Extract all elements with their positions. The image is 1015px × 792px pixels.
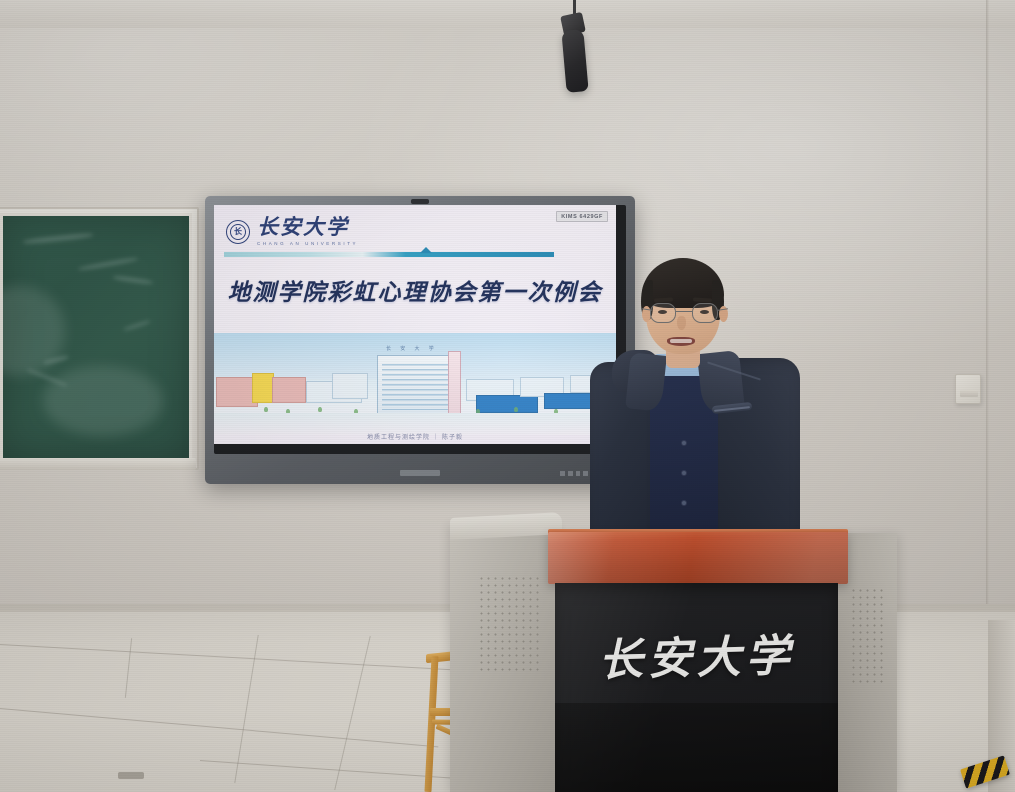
campus-building-label: 长 安 大 学 xyxy=(386,345,438,352)
presentation-slide[interactable]: KIMS 6429GF 长 长安大学 CHANG AN UNIVERSITY 地… xyxy=(214,205,616,444)
lectern-desktop-sheen xyxy=(548,532,848,584)
eyeglasses-bridge xyxy=(676,311,692,312)
lectern[interactable]: 长安大学 xyxy=(450,515,850,792)
campus-illustration: 长 安 大 学 xyxy=(214,333,616,435)
slide-accent-bar xyxy=(224,252,554,257)
slide-footer-credit: 地质工程与测绘学院 ｜ 陈子毅 xyxy=(214,433,616,444)
university-seal-icon: 长 xyxy=(226,220,250,244)
campus-main-building xyxy=(377,355,457,417)
university-wordmark: 长安大学 xyxy=(257,217,358,238)
light-switch[interactable] xyxy=(955,374,981,404)
university-wordmark-en: CHANG AN UNIVERSITY xyxy=(257,241,358,246)
campus-tower xyxy=(448,351,461,417)
speaker-grille xyxy=(850,587,886,683)
eyeglasses-lens-left xyxy=(650,303,676,323)
campus-ground xyxy=(214,413,616,435)
watermark-badge: KIMS 6429GF xyxy=(556,211,608,222)
mouth xyxy=(667,337,695,346)
speaker-grille xyxy=(478,575,540,675)
nose xyxy=(677,316,686,330)
university-logo: 长 长安大学 CHANG AN UNIVERSITY xyxy=(226,217,358,246)
green-chalkboard xyxy=(0,213,192,461)
panel-brand-logo xyxy=(400,470,440,476)
eyeglasses-lens-right xyxy=(692,303,718,323)
lectern-university-calligraphy: 长安大学 xyxy=(554,603,839,704)
ceiling xyxy=(0,0,1015,28)
slide-title: 地测学院彩虹心理协会第一次例会 xyxy=(214,273,616,307)
presenter xyxy=(588,258,803,558)
wall-corner-edge xyxy=(986,0,989,640)
lectern-lower-shadow xyxy=(555,703,838,792)
panel-camera-icon xyxy=(411,199,429,204)
classroom-photo: KIMS 6429GF 长 长安大学 CHANG AN UNIVERSITY 地… xyxy=(0,0,1015,792)
seal-character: 长 xyxy=(234,228,242,236)
chalk-tray xyxy=(0,458,196,470)
